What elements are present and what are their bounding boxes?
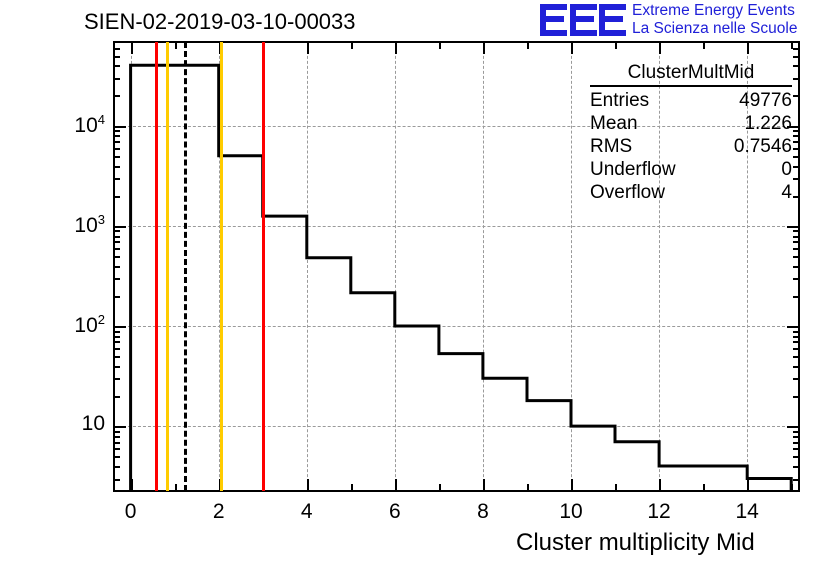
x-tick-major [747, 479, 749, 492]
x-tick-minor [615, 484, 617, 492]
eee-logo-line2: La Scienza nelle Scuole [632, 20, 797, 38]
y-tick-major [113, 226, 126, 228]
y-tick-minor [113, 41, 120, 43]
stats-value: 1.226 [744, 112, 792, 135]
y-tick-minor [113, 156, 120, 158]
y-tick-minor [113, 356, 120, 358]
y-tick-minor-right [793, 230, 800, 232]
y-tick-minor [113, 278, 120, 280]
y-tick-minor-right [793, 331, 800, 333]
x-tick-label: 0 [125, 500, 137, 524]
stats-key: Entries [590, 89, 649, 112]
x-tick-minor-top [615, 41, 617, 49]
y-tick-minor [113, 296, 120, 298]
y-tick-label: 102 [20, 312, 105, 338]
y-tick-minor [113, 135, 120, 137]
x-tick-minor [439, 484, 441, 492]
x-tick-major-top [483, 41, 485, 54]
y-tick-major-right [787, 226, 800, 228]
y-tick-major [113, 326, 126, 328]
x-tick-minor-top [527, 41, 529, 49]
y-tick-label: 104 [20, 112, 105, 138]
stats-value: 49776 [739, 89, 792, 112]
y-tick-label: 103 [20, 212, 105, 238]
y-tick-minor [113, 166, 120, 168]
y-tick-minor [113, 456, 120, 458]
eee-logo-text: Extreme Energy Events La Scienza nelle S… [632, 2, 797, 38]
y-tick-minor [113, 95, 120, 97]
y-tick-major [113, 126, 126, 128]
stats-key: Underflow [590, 158, 676, 181]
y-tick-minor-right [793, 442, 800, 444]
y-tick-minor-right [793, 48, 800, 50]
x-tick-label: 14 [735, 500, 758, 524]
stats-row: RMS0.7546 [586, 135, 796, 158]
y-tick-minor [113, 448, 120, 450]
y-tick-major-right [787, 426, 800, 428]
y-tick-minor [113, 148, 120, 150]
x-tick-minor-top [175, 41, 177, 49]
mean-line [184, 42, 187, 491]
y-tick-minor [113, 130, 120, 132]
y-tick-minor [113, 248, 120, 250]
y-tick-minor-right [793, 248, 800, 250]
x-tick-major-top [659, 41, 661, 54]
x-tick-minor [175, 484, 177, 492]
stats-box: ClusterMultMid Entries49776Mean1.226RMS0… [586, 62, 796, 204]
x-tick-minor [791, 484, 793, 492]
y-tick-minor [113, 266, 120, 268]
y-tick-minor [113, 479, 120, 481]
y-tick-minor-right [793, 348, 800, 350]
y-tick-minor-right [793, 278, 800, 280]
y-tick-minor [113, 431, 120, 433]
stats-rows: Entries49776Mean1.226RMS0.7546Underflow0… [586, 89, 796, 204]
x-tick-label: 12 [647, 500, 670, 524]
y-tick-minor [113, 466, 120, 468]
y-tick-minor [113, 341, 120, 343]
x-tick-major [483, 479, 485, 492]
stats-key: Mean [590, 112, 638, 135]
stats-title: ClusterMultMid [590, 62, 792, 87]
y-tick-minor [113, 366, 120, 368]
x-tick-major-top [307, 41, 309, 54]
stats-value: 4 [781, 181, 792, 204]
y-tick-major-right [787, 326, 800, 328]
x-tick-label: 6 [389, 500, 401, 524]
x-tick-major [659, 479, 661, 492]
page-title: SIEN-02-2019-03-10-00033 [84, 9, 356, 35]
y-tick-minor-right [793, 431, 800, 433]
eee-mark-icon [540, 3, 626, 37]
x-tick-major [131, 479, 133, 492]
y-tick-minor-right [793, 466, 800, 468]
y-tick-minor-right [793, 256, 800, 258]
y-tick-minor-right [793, 266, 800, 268]
y-tick-minor-right [793, 366, 800, 368]
y-tick-minor [113, 178, 120, 180]
y-tick-minor-right [793, 448, 800, 450]
stats-row: Mean1.226 [586, 112, 796, 135]
stats-row: Overflow4 [586, 181, 796, 204]
x-tick-major-top [747, 41, 749, 54]
y-tick-minor-right [793, 241, 800, 243]
x-tick-major-top [395, 41, 397, 54]
y-tick-minor [113, 396, 120, 398]
y-tick-minor [113, 48, 120, 50]
y-tick-minor-right [793, 356, 800, 358]
x-tick-minor [527, 484, 529, 492]
y-tick-minor [113, 56, 120, 58]
y-tick-major [113, 426, 126, 428]
upper-red-cut [262, 42, 265, 491]
y-tick-minor [113, 442, 120, 444]
x-tick-minor [351, 484, 353, 492]
y-tick-minor-right [793, 56, 800, 58]
x-tick-major-top [131, 41, 133, 54]
y-tick-minor [113, 141, 120, 143]
stats-value: 0.7546 [734, 135, 792, 158]
y-tick-minor [113, 241, 120, 243]
eee-logo-line1: Extreme Energy Events [632, 2, 797, 20]
x-tick-label: 8 [477, 500, 489, 524]
x-tick-minor [703, 484, 705, 492]
y-tick-minor-right [793, 41, 800, 43]
y-tick-minor-right [793, 341, 800, 343]
y-tick-minor-right [793, 479, 800, 481]
y-tick-minor [113, 230, 120, 232]
stats-row: Entries49776 [586, 89, 796, 112]
stats-key: Overflow [590, 181, 665, 204]
y-tick-minor [113, 236, 120, 238]
x-tick-label: 2 [213, 500, 225, 524]
y-tick-minor-right [793, 396, 800, 398]
upper-orange-cut [220, 42, 223, 491]
x-tick-major [307, 479, 309, 492]
x-tick-label: 10 [559, 500, 582, 524]
stats-key: RMS [590, 135, 632, 158]
histogram-canvas: SIEN-02-2019-03-10-00033 Extreme Energy … [0, 0, 836, 572]
x-tick-label: 4 [301, 500, 313, 524]
y-tick-minor [113, 336, 120, 338]
y-tick-minor [113, 378, 120, 380]
y-tick-minor-right [793, 236, 800, 238]
y-tick-minor [113, 65, 120, 67]
y-tick-minor-right [793, 336, 800, 338]
stats-value: 0 [781, 158, 792, 181]
lower-red-cut [155, 42, 158, 491]
y-tick-minor [113, 256, 120, 258]
x-tick-major [395, 479, 397, 492]
y-tick-minor-right [793, 456, 800, 458]
lower-orange-cut [166, 42, 169, 491]
y-tick-minor [113, 348, 120, 350]
eee-logo: Extreme Energy Events La Scienza nelle S… [540, 2, 832, 42]
y-tick-minor-right [793, 436, 800, 438]
y-tick-minor [113, 196, 120, 198]
y-tick-minor [113, 78, 120, 80]
y-tick-minor [113, 436, 120, 438]
x-tick-minor-top [351, 41, 353, 49]
y-tick-minor-right [793, 378, 800, 380]
x-tick-major-top [571, 41, 573, 54]
x-axis-title: Cluster multiplicity Mid [516, 529, 755, 557]
x-tick-minor-top [703, 41, 705, 49]
x-tick-major [571, 479, 573, 492]
stats-row: Underflow0 [586, 158, 796, 181]
x-tick-minor-top [439, 41, 441, 49]
y-tick-minor-right [793, 296, 800, 298]
y-tick-minor [113, 331, 120, 333]
y-tick-label: 10 [20, 412, 105, 436]
